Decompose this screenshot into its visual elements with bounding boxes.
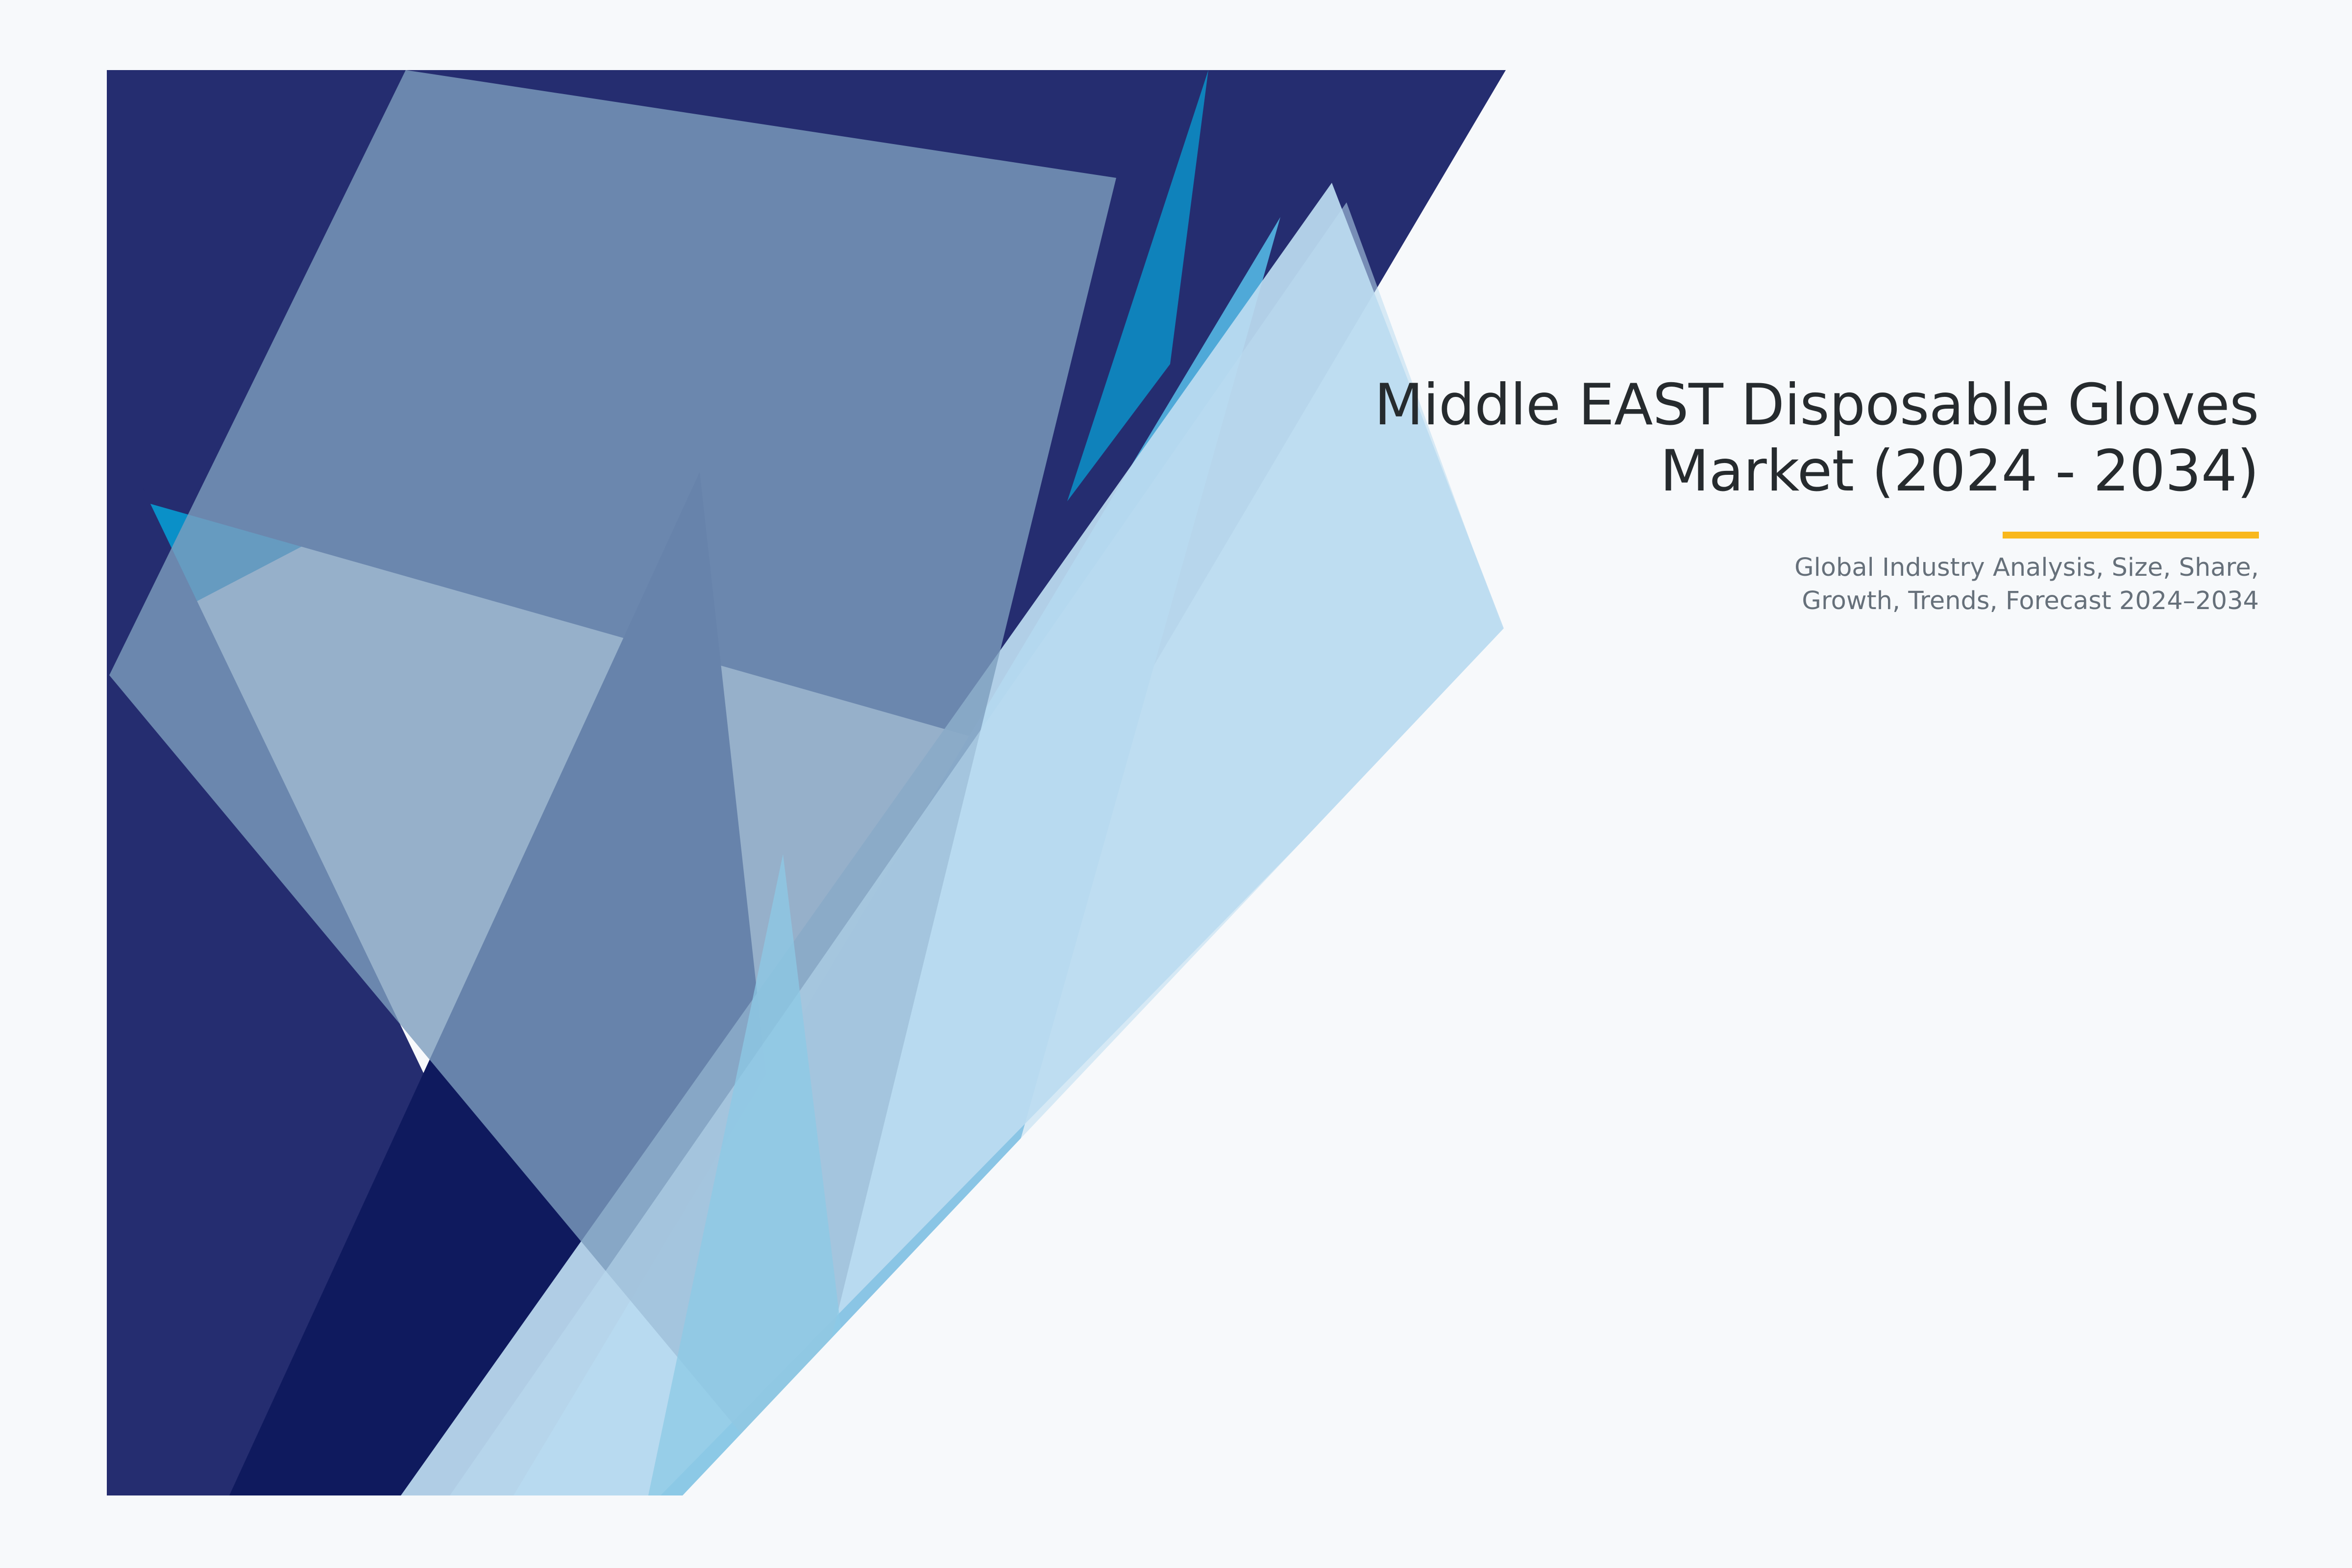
page-title: Middle EAST Disposable Gloves Market (20… — [1068, 372, 2259, 504]
page-title-line-2: Market (2024 - 2034) — [1068, 439, 2259, 505]
cover-text-block: Middle EAST Disposable Gloves Market (20… — [1068, 372, 2259, 618]
page-subtitle: Global Industry Analysis, Size, Share, G… — [1068, 551, 2259, 618]
report-cover-page: Middle EAST Disposable Gloves Market (20… — [0, 0, 2352, 1568]
cover-artwork — [107, 70, 1506, 1495]
geometric-artwork-svg — [107, 70, 1506, 1495]
page-subtitle-line-1: Global Industry Analysis, Size, Share, — [1068, 551, 2259, 585]
title-accent-underline — [2003, 532, 2259, 539]
page-title-line-1: Middle EAST Disposable Gloves — [1068, 372, 2259, 439]
page-subtitle-line-2: Growth, Trends, Forecast 2024–2034 — [1068, 585, 2259, 618]
